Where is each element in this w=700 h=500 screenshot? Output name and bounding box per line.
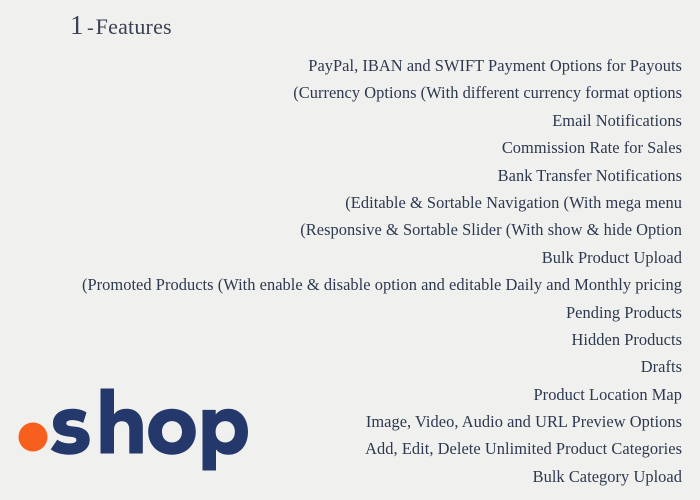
- list-item: (Promoted Products (With enable & disabl…: [14, 271, 682, 298]
- list-item: Email Notifications: [14, 107, 682, 134]
- section-number: 1: [70, 10, 84, 40]
- list-item: Commission Rate for Sales: [14, 134, 682, 161]
- list-item: Bulk Product Upload: [14, 244, 682, 271]
- list-item: Pending Products: [14, 299, 682, 326]
- shop-logo: [16, 382, 248, 474]
- list-item: (Editable & Sortable Navigation (With me…: [14, 189, 682, 216]
- section-title-text: Features: [96, 14, 172, 39]
- list-item: Drafts: [14, 353, 682, 380]
- list-item: (Currency Options (With different curren…: [14, 79, 682, 106]
- logo-dot-icon: [19, 423, 48, 452]
- list-item: Hidden Products: [14, 326, 682, 353]
- list-item: (Responsive & Sortable Slider (With show…: [14, 216, 682, 243]
- list-item: PayPal, IBAN and SWIFT Payment Options f…: [14, 52, 682, 79]
- page-title: 1-Features: [70, 12, 172, 39]
- title-separator: -: [84, 17, 96, 39]
- slide-canvas: 1-Features PayPal, IBAN and SWIFT Paymen…: [0, 0, 700, 500]
- list-item: Bank Transfer Notifications: [14, 162, 682, 189]
- logo-wordmark-icon: [51, 389, 248, 471]
